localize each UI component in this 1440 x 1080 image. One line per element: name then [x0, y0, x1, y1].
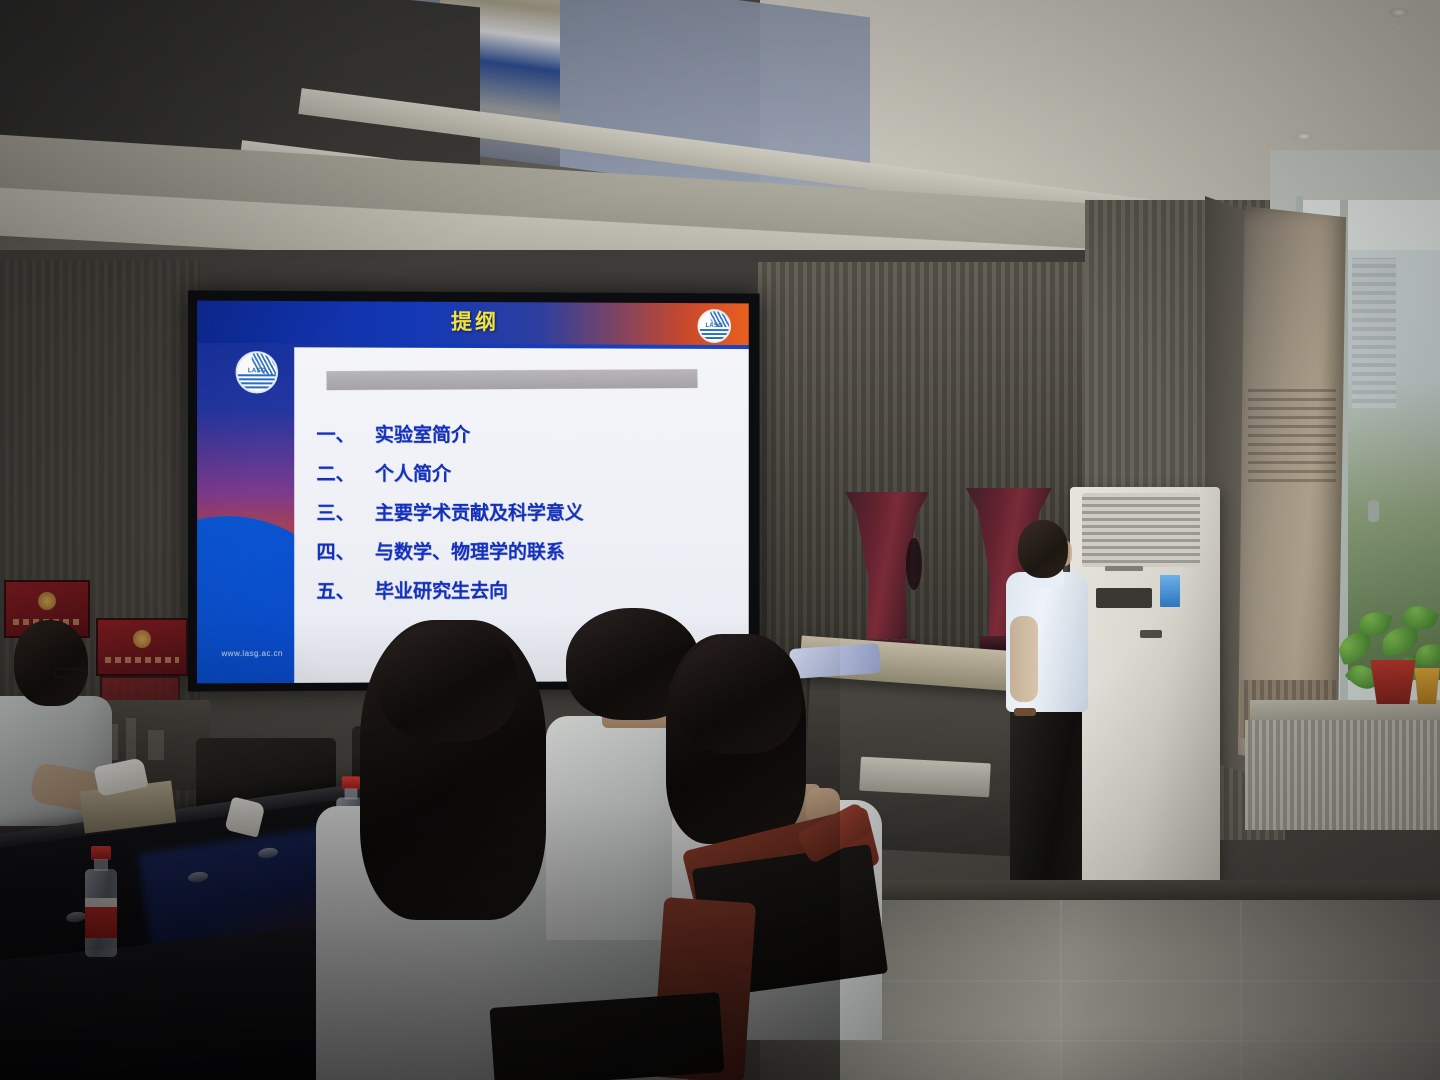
ac-brand-label [1105, 566, 1143, 571]
ac-energy-sticker [1160, 575, 1180, 607]
slide-title: 提纲 [197, 305, 749, 338]
list-item: 五、 毕业研究生去向 [316, 575, 744, 603]
plaque-emblem-icon [38, 592, 56, 610]
lasg-logo-icon: LASG [236, 351, 278, 393]
downlight-icon [1295, 132, 1313, 141]
chair-back-dark[interactable] [489, 992, 724, 1080]
logo-text: LASG [699, 323, 729, 329]
outline-number: 五、 [316, 576, 374, 603]
logo-text: LASG [238, 368, 276, 374]
ac-logo-icon [1140, 630, 1162, 638]
outline-number: 三、 [316, 498, 374, 525]
list-item: 四、 与数学、物理学的联系 [316, 537, 744, 565]
shelf-item [126, 718, 136, 760]
attendee-head [676, 634, 802, 754]
water-bottle[interactable] [84, 846, 118, 956]
vase-decoration [906, 538, 922, 590]
outline-text: 实验室简介 [375, 420, 470, 447]
conference-room-scene: 提纲 LASG 一、 实验室简介 二、 个人简介 [0, 0, 1440, 1080]
downlight-icon [1390, 8, 1408, 17]
slide-placeholder-bar [326, 369, 697, 390]
lasg-logo-icon: LASG [697, 309, 731, 343]
glasses-icon [54, 668, 88, 678]
outline-text: 主要学术贡献及科学意义 [375, 498, 584, 525]
plaque-emblem-icon [133, 630, 151, 648]
list-item: 三、 主要学术贡献及科学意义 [316, 498, 744, 525]
shelf-item [148, 730, 164, 760]
presenter-arm [1010, 616, 1038, 702]
outline-text: 与数学、物理学的联系 [375, 537, 565, 564]
window-handle[interactable] [1368, 500, 1379, 522]
outline-number: 一、 [316, 420, 374, 447]
bottle-cap [91, 846, 111, 860]
outline-text: 毕业研究生去向 [375, 576, 508, 603]
radiator [1245, 720, 1440, 830]
outline-number: 四、 [316, 537, 374, 564]
slide-url: www.lasg.ac.cn [221, 649, 282, 658]
outline-number: 二、 [316, 459, 374, 486]
presenter-head [1018, 520, 1068, 578]
attendee-head [14, 620, 88, 706]
outline-text: 个人简介 [375, 459, 451, 486]
list-item: 二、 个人简介 [316, 459, 744, 486]
slide-outline-list: 一、 实验室简介 二、 个人简介 三、 主要学术贡献及科学意义 四、 与数学、物… [316, 420, 744, 616]
curtain-pattern [1248, 386, 1336, 482]
bottle-label [85, 898, 117, 938]
list-item: 一、 实验室简介 [316, 420, 744, 448]
attendee-head [378, 622, 518, 742]
presenter-watch [1014, 708, 1036, 716]
outside-building [1352, 258, 1396, 408]
